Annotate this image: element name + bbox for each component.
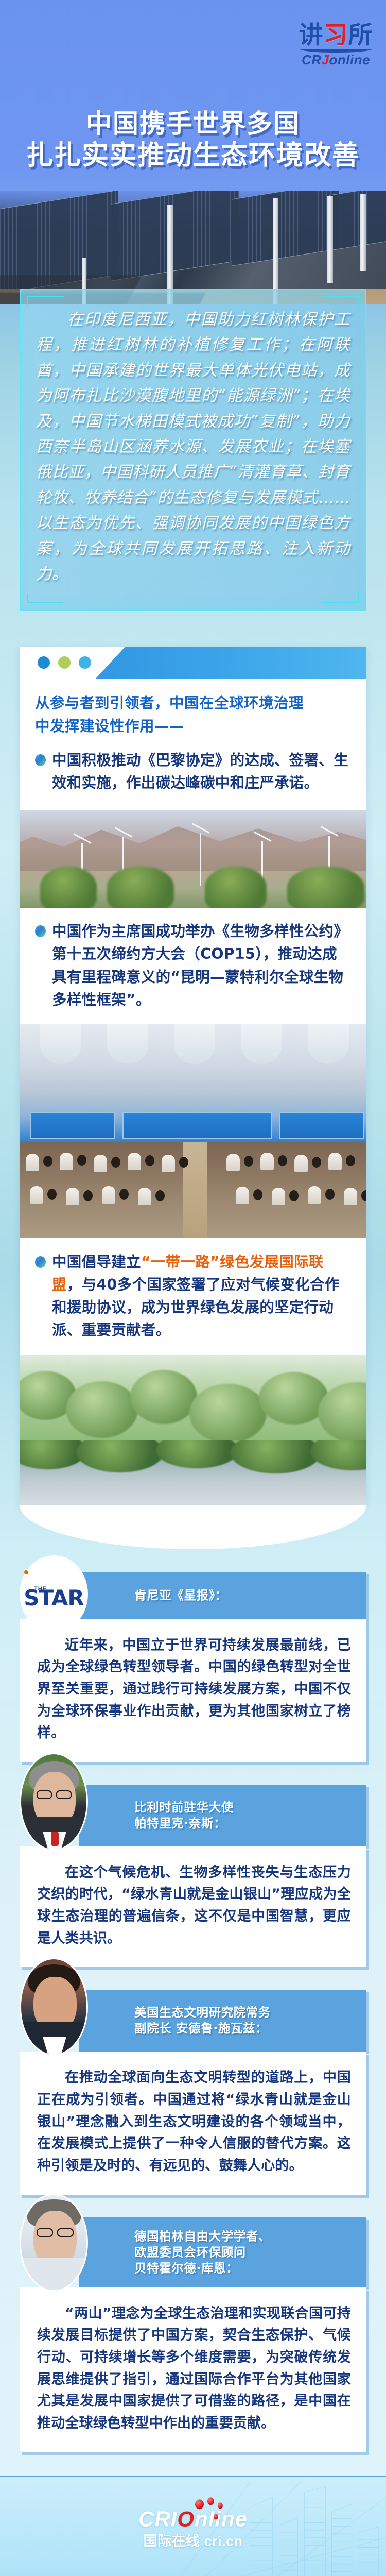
- corner-bracket-icon: [27, 594, 63, 603]
- quote-title-bar: 美国生态文明研究院常务 副院长 安德鲁·施瓦兹：: [79, 1990, 366, 2052]
- title-line-2: 扎扎实实推动生态环境改善: [0, 140, 386, 172]
- quote-text: 近年来，中国立于世界可持续发展最前线，已成为全球绿色转型领导者。中国的绿色转型对…: [37, 1635, 351, 1744]
- bullet-block-3: 中国倡导建立“一带一路”绿色发展国际联盟，与40多个国家签署了应对气候变化合作和…: [20, 1238, 366, 1355]
- page-footer: CRIOnline 国际在线 cri.cn: [0, 2476, 386, 2576]
- bullet-dot-icon: [35, 925, 46, 937]
- intro-paragraph: 在印度尼西亚，中国助力红树林保护工程，推进红树林的补植修复工作；在阿联酋，中国承…: [36, 307, 350, 587]
- quote-source-title: 比利时前驻华大使 帕特里克·奈斯：: [134, 1800, 234, 1832]
- quote-source-line-1: 比利时前驻华大使: [134, 1800, 234, 1816]
- mounting-post: [360, 194, 366, 271]
- quote-block-kenya-star: THESTAR 肯尼亚《星报》： 近年来，中国立于世界可持续发展最前线，已成为全…: [20, 1572, 366, 1762]
- quote-block-germany-fu-berlin: 德国柏林自由大学学者、 欧盟委员会环保顾问 贝特霍尔德·库恩： “两山”理念为全…: [20, 2217, 366, 2452]
- footer-logo-cn: 国际在线 cri.cn: [138, 2533, 248, 2549]
- dot-green-icon: [58, 656, 71, 669]
- quote-source-line-2: 副院长 安德鲁·施瓦兹：: [134, 2021, 271, 2037]
- cri-online-logo-text: CRJonline: [299, 53, 373, 66]
- quote-text: “两山”理念为全球生态治理和实现联合国可持续发展目标提供了中国方案，契合生态保护…: [37, 2303, 351, 2435]
- dot-lightblue-icon: [79, 656, 91, 669]
- title-line-1: 中国携手世界多国: [0, 108, 386, 140]
- conference-crowd-photo: [20, 1142, 366, 1238]
- quote-block-us-institute: 美国生态文明研究院常务 副院长 安德鲁·施瓦兹： 在推动全球面向生态文明转型的道…: [20, 1990, 366, 2194]
- quote-source-line-3: 贝特霍尔德·库恩：: [134, 2260, 271, 2276]
- cri-footer-logo: CRIOnline 国际在线 cri.cn: [138, 2506, 248, 2549]
- card-tab-bar: [20, 647, 366, 679]
- quote-body: 近年来，中国立于世界可持续发展最前线，已成为全球绿色转型领导者。中国的绿色转型对…: [20, 1619, 366, 1762]
- mangrove-water-photo: [20, 1440, 366, 1505]
- bullet-dot-icon: [35, 754, 46, 766]
- section-heading-line-2: 中发挥建设性作用——: [35, 715, 351, 738]
- bullet-text-2: 中国作为主席国成功举办《生物多样性公约》第十五次缔约方大会（COP15），推动达…: [52, 920, 351, 1011]
- bullet3-suffix: ，与40多个国家签署了应对气候变化合作和援助协议，成为世界绿色发展的坚定行动派、…: [52, 1276, 340, 1338]
- bullet-text-1: 中国积极推动《巴黎协定》的达成、签署、生效和实施，作出碳达峰碳中和庄严承诺。: [52, 749, 351, 794]
- section-heading-block: 从参与者到引领者，中国在全球环境治理 中发挥建设性作用—— 中国积极推动《巴黎协…: [20, 679, 366, 810]
- quote-source-title: 肯尼亚《星报》：: [134, 1587, 227, 1603]
- avatar-andrew-schwartz: [20, 1958, 88, 2056]
- quote-title-bar: THESTAR 肯尼亚《星报》：: [79, 1572, 366, 1619]
- quote-source-line-2: 欧盟委员会环保顾问: [134, 2244, 271, 2260]
- page-title: 中国携手世界多国 扎扎实实推动生态环境改善: [0, 108, 386, 172]
- hero-banner: 讲习所 CRJonline 中国携手世: [0, 0, 386, 304]
- bullet-block-2: 中国作为主席国成功举办《生物多样性公约》第十五次缔约方大会（COP15），推动达…: [20, 908, 366, 1024]
- quote-source-title: 美国生态文明研究院常务 副院长 安德鲁·施瓦兹：: [134, 2005, 271, 2037]
- wind-farm-photo: [20, 810, 366, 908]
- quote-title-bar: 德国柏林自由大学学者、 欧盟委员会环保顾问 贝特霍尔德·库恩：: [79, 2217, 366, 2287]
- bullet-text-3: 中国倡导建立“一带一路”绿色发展国际联盟，与40多个国家签署了应对气候变化合作和…: [52, 1251, 351, 1342]
- avatar-patrick-nijs: [20, 1753, 88, 1851]
- quote-body: “两山”理念为全球生态治理和实现联合国可持续发展目标提供了中国方案，契合生态保护…: [20, 2287, 366, 2452]
- cop15-hall-photo: [20, 1024, 366, 1142]
- footer-logo-en: CRIOnline: [138, 2506, 248, 2531]
- intro-card: 在印度尼西亚，中国助力红树林保护工程，推进红树林的补植修复工作；在阿联酋，中国承…: [20, 289, 366, 611]
- quote-source-line-2: 帕特里克·奈斯：: [134, 1816, 234, 1832]
- forest-canopy-photo: [20, 1355, 366, 1440]
- bullet-item-1: 中国积极推动《巴黎协定》的达成、签署、生效和实施，作出碳达峰碳中和庄严承诺。: [35, 749, 351, 794]
- corner-bracket-icon: [323, 296, 359, 305]
- traffic-dots: [38, 656, 91, 669]
- quote-source-line-1: 德国柏林自由大学学者、: [134, 2228, 271, 2244]
- quote-source-title: 德国柏林自由大学学者、 欧盟委员会环保顾问 贝特霍尔德·库恩：: [134, 2228, 271, 2276]
- quote-text: 在这个气候危机、生物多样性丧失与生态压力交织的时代，“绿水青山就是金山银山”理应…: [37, 1862, 351, 1950]
- avatar-berthold-kuhn: [20, 2194, 88, 2292]
- the-star-logo: THESTAR: [20, 1555, 88, 1633]
- quote-body: 在这个气候危机、生物多样性丧失与生态压力交织的时代，“绿水青山就是金山银山”理应…: [20, 1846, 366, 1968]
- infographic-page: 讲习所 CRJonline 中国携手世: [0, 0, 386, 2576]
- star-logo-the: THE: [34, 1586, 47, 1592]
- jiangxisuo-logo-text: 讲习所: [299, 23, 373, 47]
- quote-block-belgium-ambassador: 比利时前驻华大使 帕特里克·奈斯： 在这个气候危机、生物多样性丧失与生态压力交织…: [20, 1785, 366, 1968]
- quote-text: 在推动全球面向生态文明转型的道路上，中国正在成为引领者。中国通过将“绿水青山就是…: [37, 2067, 351, 2177]
- card-bottom-curve: [20, 1505, 366, 1549]
- global-governance-card: 从参与者到引领者，中国在全球环境治理 中发挥建设性作用—— 中国积极推动《巴黎协…: [20, 647, 366, 1504]
- bullet-item-2: 中国作为主席国成功举办《生物多样性公约》第十五次缔约方大会（COP15），推动达…: [35, 920, 351, 1011]
- bullet-item-3: 中国倡导建立“一带一路”绿色发展国际联盟，与40多个国家签署了应对气候变化合作和…: [35, 1251, 351, 1342]
- star-logo-word: STAR: [24, 1587, 83, 1609]
- solar-farm-photo: [0, 191, 386, 304]
- star-logo-dot-icon: [24, 1570, 28, 1574]
- quote-body: 在推动全球面向生态文明转型的道路上，中国正在成为引领者。中国通过将“绿水青山就是…: [20, 2052, 366, 2194]
- dot-blue-icon: [38, 656, 50, 669]
- cri-header-logo: 讲习所 CRJonline: [299, 23, 373, 66]
- section-heading-line-1: 从参与者到引领者，中国在全球环境治理: [35, 692, 351, 715]
- mounting-post: [327, 196, 333, 283]
- quote-source-line-1: 美国生态文明研究院常务: [134, 2005, 271, 2021]
- bullet3-prefix: 中国倡导建立: [52, 1253, 141, 1270]
- bullet-dot-icon: [35, 1256, 46, 1268]
- quote-title-bar: 比利时前驻华大使 帕特里克·奈斯：: [79, 1785, 366, 1846]
